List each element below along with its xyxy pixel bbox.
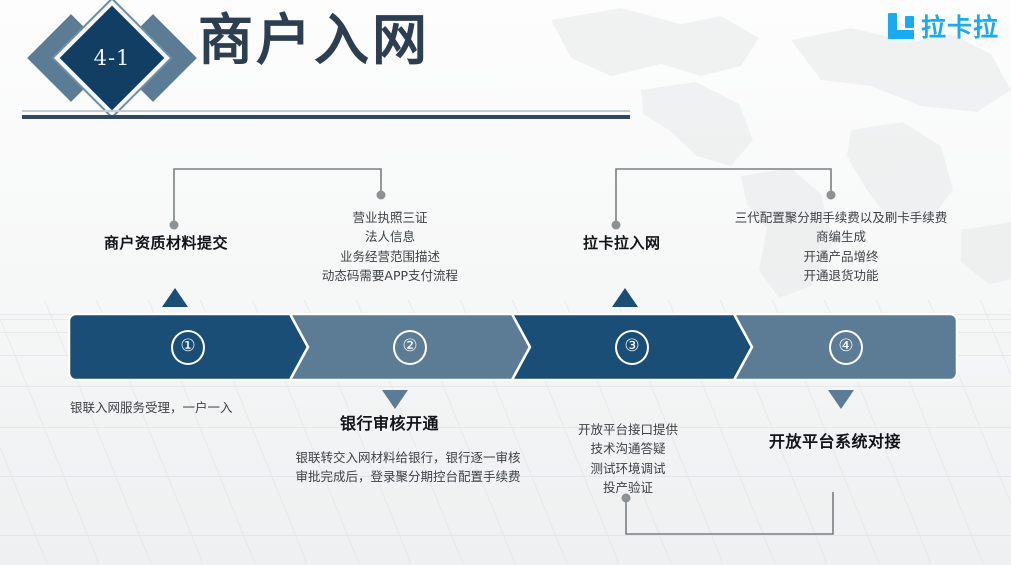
- step1-bottom-details: 银联入网服务受理，一户一入: [70, 398, 370, 417]
- title-rule-thick: [22, 115, 630, 119]
- step1-details: 营业执照三证法人信息业务经营范围描述动态码需要APP支付流程: [290, 208, 490, 286]
- step3-details: 三代配置聚分期手续费以及刷卡手续费商编生成开通产品增终开通退货功能: [716, 208, 966, 286]
- step4-heading: 开放平台系统对接: [769, 428, 901, 452]
- detail-line: 投产验证: [553, 478, 703, 497]
- step-number-1: ①: [171, 330, 205, 365]
- slide-root: 4-1 商户入网 拉卡拉: [0, 0, 1011, 565]
- slide-number-badge: 4-1: [32, 4, 192, 112]
- step-number-2: ②: [393, 330, 427, 365]
- page-title: 商户入网: [198, 10, 430, 71]
- pointer-triangle-step1: [162, 288, 188, 307]
- step2-details: 银联转交入网材料给银行，银行逐一审核审批完成后，登录聚分期控台配置手续费: [278, 448, 538, 487]
- step2-heading: 银行审核开通: [340, 410, 439, 434]
- process-step-1[interactable]: ①: [68, 313, 308, 381]
- connector-step3-details-to-step4: [620, 492, 850, 552]
- pointer-triangle-step4: [828, 390, 854, 409]
- step1-heading: 商户资质材料提交: [104, 232, 228, 253]
- detail-line: 商编生成: [716, 227, 966, 246]
- detail-line: 动态码需要APP支付流程: [290, 266, 490, 285]
- process-step-2[interactable]: ②: [290, 313, 530, 381]
- step-number-3: ③: [615, 330, 649, 365]
- brand-logo: 拉卡拉: [888, 8, 999, 44]
- pointer-triangle-step3: [612, 288, 638, 307]
- detail-line: 业务经营范围描述: [290, 247, 490, 266]
- detail-line: 三代配置聚分期手续费以及刷卡手续费: [716, 208, 966, 227]
- step-number-4: ④: [829, 330, 863, 365]
- detail-line: 银联入网服务受理，一户一入: [70, 398, 370, 417]
- process-step-3[interactable]: ③: [512, 313, 752, 381]
- detail-line: 法人信息: [290, 227, 490, 246]
- detail-line: 开放平台接口提供: [553, 420, 703, 439]
- brand-name-text: 拉卡拉: [921, 8, 999, 44]
- detail-line: 银联转交入网材料给银行，银行逐一审核: [278, 448, 538, 467]
- detail-line: 开通产品增终: [716, 247, 966, 266]
- detail-line: 营业执照三证: [290, 208, 490, 227]
- detail-line: 开通退货功能: [716, 266, 966, 285]
- pointer-triangle-step2: [382, 390, 408, 409]
- detail-line: 测试环境调试: [553, 459, 703, 478]
- detail-line: 技术沟通答疑: [553, 439, 703, 458]
- title-rule-thin: [22, 110, 630, 112]
- step3-bottom-details: 开放平台接口提供技术沟通答疑测试环境调试投产验证: [553, 420, 703, 498]
- lakala-logo-icon: [888, 13, 914, 39]
- process-step-4[interactable]: ④: [734, 313, 958, 381]
- process-flow-bar: ① ② ③ ④: [68, 313, 958, 381]
- slide-number-text: 4-1: [75, 21, 149, 95]
- detail-line: 审批完成后，登录聚分期控台配置手续费: [278, 467, 538, 486]
- step3-heading: 拉卡拉入网: [583, 232, 661, 253]
